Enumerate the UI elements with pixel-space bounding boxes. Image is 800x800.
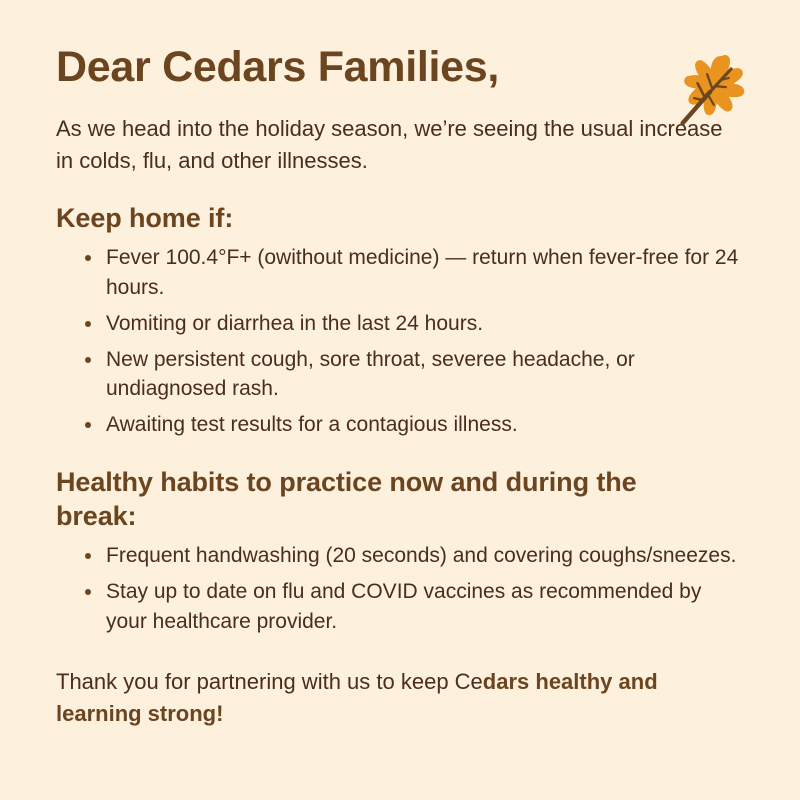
keep-home-list: Fever 100.4°F+ (owithout medicine) — ret…: [56, 243, 744, 440]
list-item: New persistent cough, sore throat, sever…: [84, 345, 744, 405]
section-heading-healthy-habits: Healthy habits to practice now and durin…: [56, 466, 721, 533]
list-item: Vomiting or diarrhea in the last 24 hour…: [84, 309, 744, 339]
section-heading-keep-home: Keep home if:: [56, 202, 721, 235]
page-title: Dear Cedars Families,: [56, 44, 656, 91]
healthy-habits-list: Frequent handwashing (20 seconds) and co…: [56, 541, 744, 636]
list-item: Stay up to date on flu and COVID vaccine…: [84, 577, 744, 637]
maple-leaf-icon: [662, 42, 758, 138]
newsletter-page: Dear Cedars Families, As we head into th…: [0, 0, 800, 800]
list-item: Fever 100.4°F+ (owithout medicine) — ret…: [84, 243, 744, 303]
list-item: Awaiting test results for a contagious i…: [84, 410, 744, 440]
closing-paragraph: Thank you for partnering with us to keep…: [56, 666, 696, 728]
closing-regular-text: Thank you for partnering with us to keep…: [56, 669, 483, 694]
list-item: Frequent handwashing (20 seconds) and co…: [84, 541, 744, 571]
intro-paragraph: As we head into the holiday season, we’r…: [56, 113, 736, 175]
